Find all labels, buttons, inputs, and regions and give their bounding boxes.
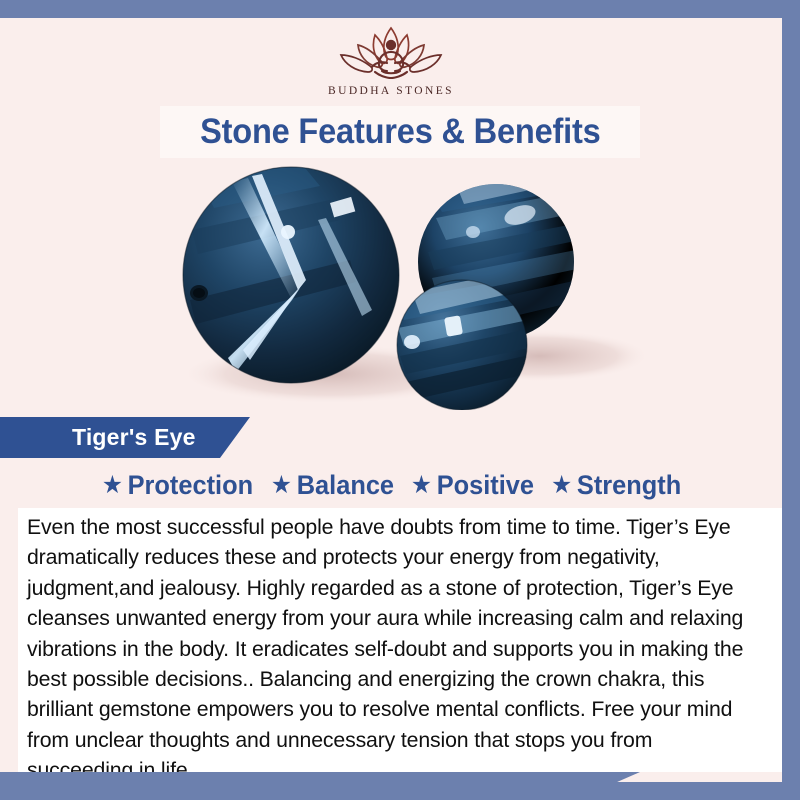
benefit-item: ★ Positive	[411, 470, 534, 501]
benefit-item: ★ Protection	[102, 470, 253, 501]
star-icon: ★	[102, 473, 123, 498]
benefits-list: ★ Protection ★ Balance ★ Positive ★ Stre…	[0, 465, 782, 505]
page-title: Stone Features & Benefits	[200, 112, 601, 152]
benefit-label: Positive	[436, 470, 533, 501]
benefit-label: Balance	[296, 470, 393, 501]
stone-name-ribbon: Tiger's Eye	[0, 417, 250, 458]
star-icon: ★	[551, 473, 572, 498]
brand-logo: BUDDHA STONES	[0, 22, 782, 104]
description-text: Even the most successful people have dou…	[27, 512, 757, 786]
bottom-accent-bar	[0, 772, 640, 800]
poster-root: BUDDHA STONES Stone Features & Benefits	[0, 0, 800, 800]
gemstone-spheres-illustration	[0, 160, 782, 410]
star-icon: ★	[411, 473, 432, 498]
benefit-item: ★ Strength	[551, 470, 681, 501]
benefit-label: Strength	[577, 470, 681, 501]
benefit-label: Protection	[127, 470, 253, 501]
page-title-band: Stone Features & Benefits	[160, 106, 640, 158]
benefit-item: ★ Balance	[271, 470, 394, 501]
brand-name: BUDDHA STONES	[328, 85, 454, 97]
product-image	[0, 160, 782, 410]
top-frame-stripe	[0, 0, 800, 18]
stone-name: Tiger's Eye	[72, 424, 196, 451]
lotus-meditation-icon	[325, 22, 457, 84]
star-icon: ★	[271, 473, 292, 498]
right-frame-stripe	[782, 0, 800, 800]
description-panel: Even the most successful people have dou…	[18, 508, 782, 772]
